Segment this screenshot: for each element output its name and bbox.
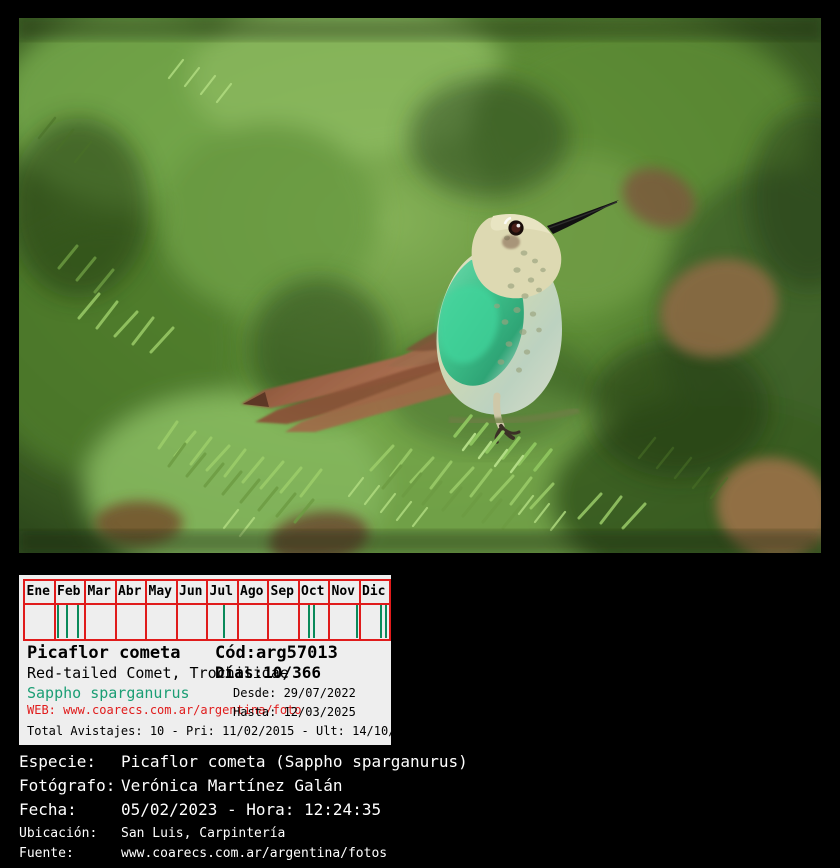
calendar-month-ago: Ago <box>237 582 268 602</box>
caption-row: Ubicación:San Luis, Carpintería <box>19 826 819 848</box>
calendar-month-ene: Ene <box>23 582 54 602</box>
record-common-name: Picaflor cometa <box>27 643 181 663</box>
caption-label: Fuente: <box>19 846 74 861</box>
caption-value: Verónica Martínez Galán <box>121 776 343 795</box>
caption-label: Especie: <box>19 752 96 771</box>
calendar-divider-5 <box>176 579 178 641</box>
sighting-tick <box>380 605 382 638</box>
sighting-tick <box>57 605 59 638</box>
calendar-month-may: May <box>145 582 176 602</box>
caption-row: Especie:Picaflor cometa (Sappho sparganu… <box>19 752 819 774</box>
sighting-tick <box>385 605 387 638</box>
record-hasta: Hasta: 12/03/2025 <box>233 705 356 719</box>
caption-label: Fotógrafo: <box>19 776 115 795</box>
calendar-divider-3 <box>115 579 117 641</box>
calendar-month-abr: Abr <box>115 582 146 602</box>
caption-row: Fotógrafo:Verónica Martínez Galán <box>19 776 819 798</box>
calendar-month-sep: Sep <box>267 582 298 602</box>
calendar-divider-0 <box>23 579 25 641</box>
calendar-divider-10 <box>328 579 330 641</box>
calendar-divider-end <box>389 579 391 641</box>
record-code: Cód:arg57013 <box>215 643 338 663</box>
calendar-divider-9 <box>298 579 300 641</box>
calendar-divider-11 <box>359 579 361 641</box>
record-days: Días:10/366 <box>215 663 321 682</box>
record-total-sightings: Total Avistajes: 10 - Pri: 11/02/2015 - … <box>27 724 424 738</box>
calendar-divider-6 <box>206 579 208 641</box>
record-desde: Desde: 29/07/2022 <box>233 686 356 700</box>
calendar-month-dic: Dic <box>359 582 390 602</box>
sighting-tick <box>223 605 225 638</box>
caption-block: Especie:Picaflor cometa (Sappho sparganu… <box>19 752 819 847</box>
calendar-divider-7 <box>237 579 239 641</box>
calendar-month-jun: Jun <box>176 582 207 602</box>
sighting-tick <box>308 605 310 638</box>
caption-label: Ubicación: <box>19 826 97 841</box>
calendar-month-oct: Oct <box>298 582 329 602</box>
caption-label: Fecha: <box>19 800 77 819</box>
bird-photo-image <box>19 18 821 553</box>
caption-row: Fuente:www.coarecs.com.ar/argentina/foto… <box>19 846 819 868</box>
calendar-month-mar: Mar <box>84 582 115 602</box>
calendar-divider-8 <box>267 579 269 641</box>
caption-value[interactable]: www.coarecs.com.ar/argentina/fotos <box>121 846 387 861</box>
calendar-month-nov: Nov <box>328 582 359 602</box>
bird-photo <box>19 18 821 553</box>
sighting-calendar: EneFebMarAbrMayJunJulAgoSepOctNovDic <box>19 575 391 643</box>
caption-row: Fecha:05/02/2023 - Hora: 12:24:35 <box>19 800 819 822</box>
sighting-tick <box>77 605 79 638</box>
record-scientific-name: Sappho sparganurus <box>27 684 190 702</box>
record-text-block: Picaflor cometa Cód:arg57013 Red-tailed … <box>19 643 391 745</box>
caption-value: Picaflor cometa (Sappho sparganurus) <box>121 752 468 771</box>
calendar-month-jul: Jul <box>206 582 237 602</box>
sighting-tick <box>313 605 315 638</box>
calendar-divider-2 <box>84 579 86 641</box>
caption-value: San Luis, Carpintería <box>121 826 285 841</box>
caption-value: 05/02/2023 - Hora: 12:24:35 <box>121 800 381 819</box>
species-record-card: EneFebMarAbrMayJunJulAgoSepOctNovDic Pic… <box>19 575 391 745</box>
sighting-tick <box>66 605 68 638</box>
calendar-month-feb: Feb <box>54 582 85 602</box>
calendar-divider-4 <box>145 579 147 641</box>
calendar-divider-1 <box>54 579 56 641</box>
